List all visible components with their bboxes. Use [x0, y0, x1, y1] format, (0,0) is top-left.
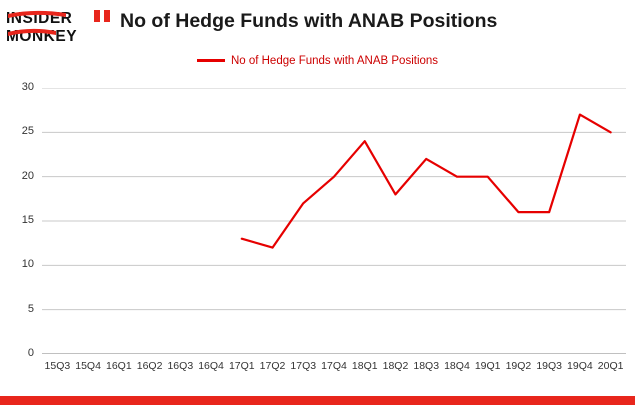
y-tick-label: 5 — [0, 303, 34, 315]
y-tick-label: 25 — [0, 125, 34, 137]
y-tick-label: 0 — [0, 347, 34, 359]
y-tick-label: 20 — [0, 170, 34, 182]
legend-label: No of Hedge Funds with ANAB Positions — [231, 55, 438, 67]
y-tick-label: 15 — [0, 214, 34, 226]
insider-monkey-logo: INSIDER MONKEY — [6, 8, 114, 48]
bottom-accent-bar — [0, 396, 635, 405]
x-axis-tick-labels: 15Q315Q416Q116Q216Q316Q417Q117Q217Q317Q4… — [42, 358, 626, 378]
legend-swatch — [197, 59, 225, 62]
chart-page: INSIDER MONKEY No of Hedge Funds with AN… — [0, 0, 635, 405]
chart-plot-area — [42, 88, 626, 354]
chart-legend: No of Hedge Funds with ANAB Positions — [0, 55, 635, 67]
logo-line-2: MONKEY — [6, 28, 77, 45]
y-tick-label: 10 — [0, 258, 34, 270]
page-title: No of Hedge Funds with ANAB Positions — [120, 10, 620, 33]
logo-line-1: INSIDER — [6, 10, 72, 27]
series-line — [242, 115, 611, 248]
chart-svg — [42, 88, 626, 354]
y-tick-label: 30 — [0, 81, 34, 93]
x-tick-label: 20Q1 — [591, 360, 631, 372]
